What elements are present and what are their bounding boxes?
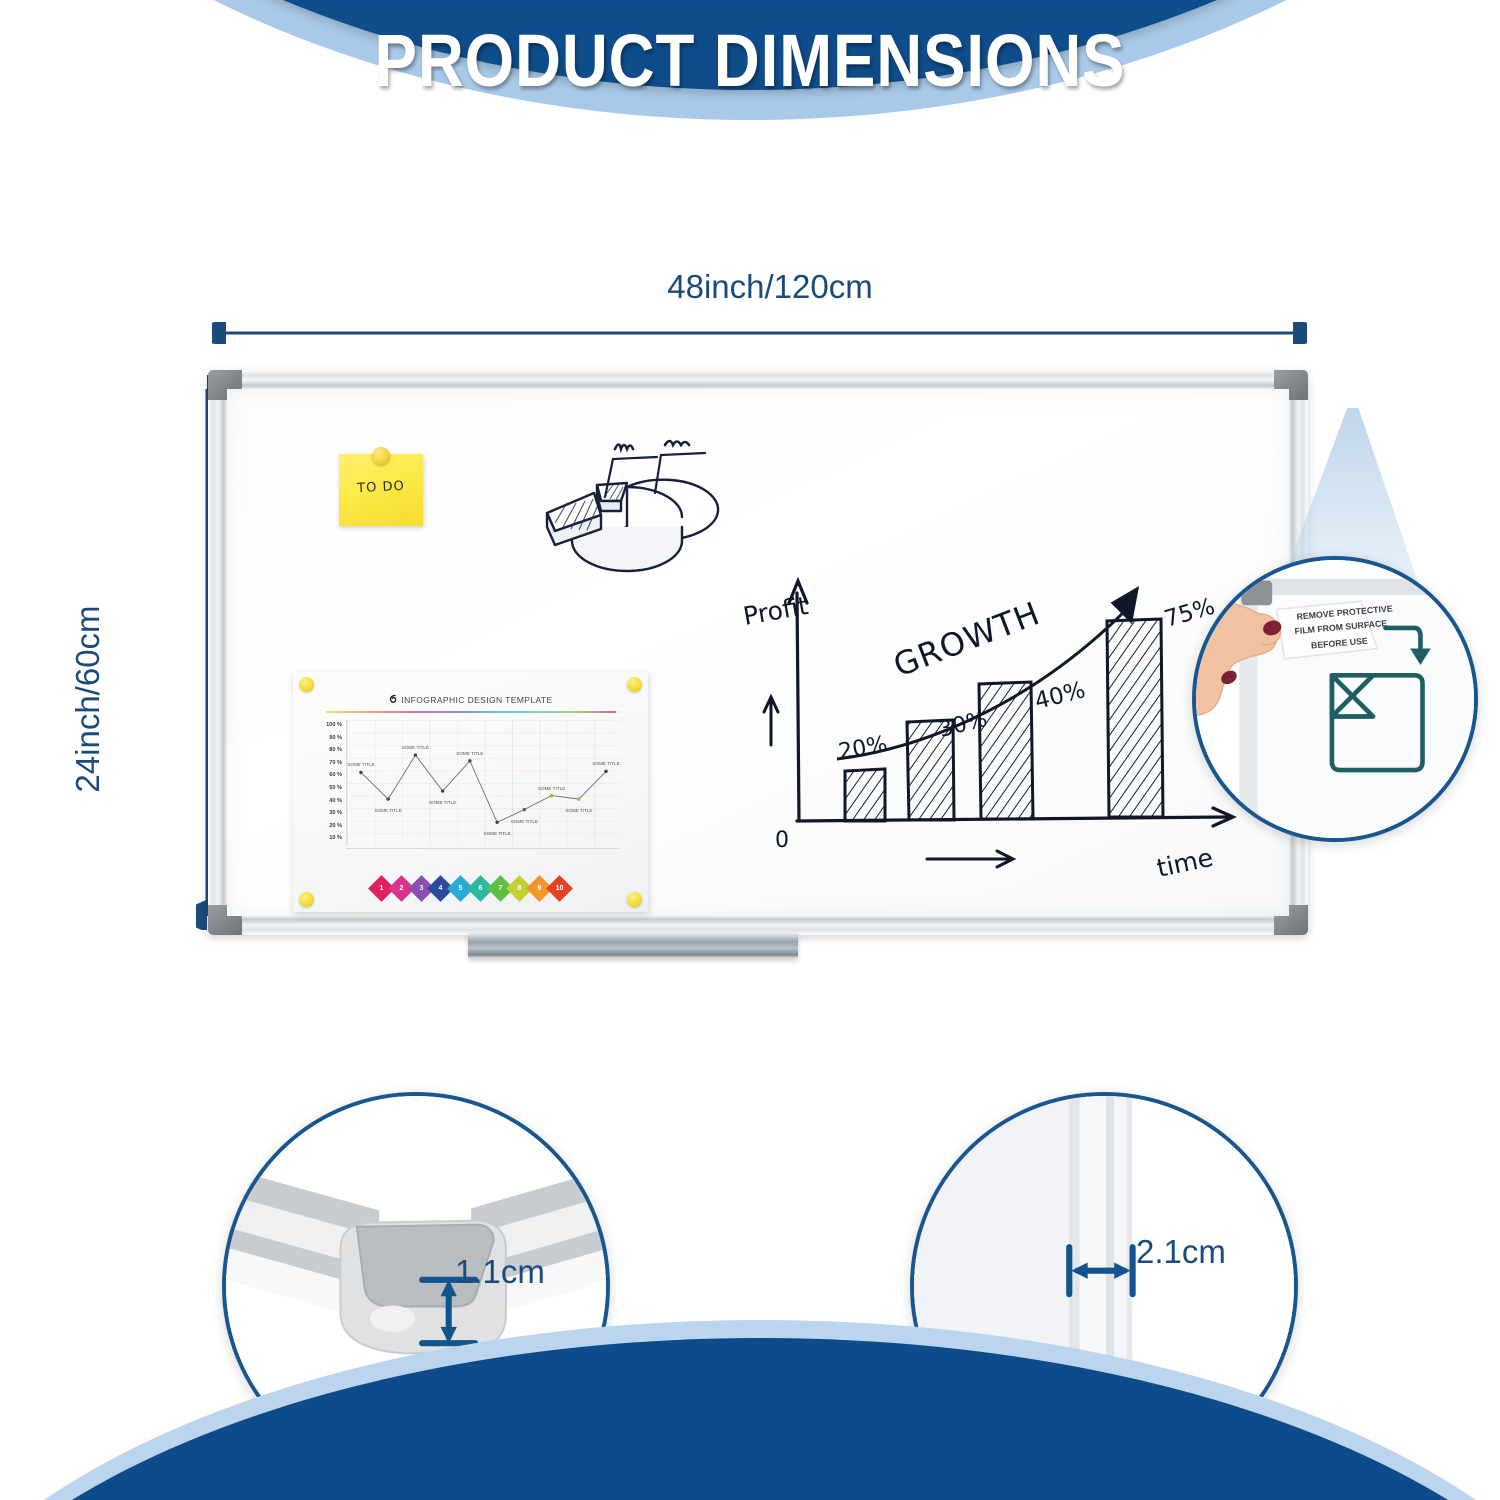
pin-icon <box>372 447 390 465</box>
svg-text:GROWTH: GROWTH <box>888 594 1045 684</box>
chart-plot-area: SOME TITLESOME TITLESOME TITLESOME TITLE… <box>346 720 620 846</box>
chart-y-tick: 40 % <box>329 798 342 804</box>
chart-y-tick: 90 % <box>329 735 342 741</box>
chart-y-axis-labels: 100 %90 %80 %70 %60 %50 %40 %30 %20 %10 … <box>316 720 342 846</box>
chart-point-label: SOME TITLE <box>456 751 483 756</box>
magnet-icon <box>627 677 642 692</box>
footer-wave <box>0 1270 1500 1500</box>
chart-point-label: SOME TITLE <box>402 745 429 750</box>
chart-point-label: SOME TITLE <box>483 831 510 836</box>
pen-tray <box>468 933 798 958</box>
chart-point-label: SOME TITLE <box>511 819 538 824</box>
svg-text:0: 0 <box>775 828 789 853</box>
svg-text:time: time <box>1154 843 1215 883</box>
sketch-pie-chart <box>509 431 744 581</box>
chart-y-tick: 70 % <box>329 760 342 766</box>
whiteboard-surface: TO DO <box>227 389 1289 916</box>
svg-text:75%: 75% <box>1161 594 1217 633</box>
chart-y-tick: 20 % <box>329 823 342 829</box>
chart-point-label: SOME TITLE <box>538 786 565 791</box>
page-title: PRODUCT DIMENSIONS <box>105 18 1395 103</box>
sticky-note: TO DO <box>339 454 423 526</box>
poster-line-chart: 100 %90 %80 %70 %60 %50 %40 %30 %20 %10 … <box>316 720 624 868</box>
chart-point-label: SOME TITLE <box>592 761 619 766</box>
whiteboard: TO DO <box>208 370 1308 935</box>
swirl-icon <box>388 694 398 704</box>
profile-width-label: 2.1cm <box>1136 1233 1226 1271</box>
width-dimension-label: 48inch/120cm <box>540 268 1000 306</box>
chart-point-label: SOME TITLE <box>347 762 374 767</box>
poster-number-badges: 12345678910 <box>293 879 648 898</box>
chart-y-tick: 30 % <box>329 810 342 816</box>
frame-rail-top <box>208 370 1308 389</box>
chart-y-tick: 80 % <box>329 747 342 753</box>
chart-point-label: SOME TITLE <box>429 800 456 805</box>
chart-y-tick: 60 % <box>329 772 342 778</box>
poster-title-text: INFOGRAPHIC DESIGN TEMPLATE <box>401 695 552 705</box>
chart-y-tick: 100 % <box>326 722 342 728</box>
chart-y-tick: 50 % <box>329 785 342 791</box>
number-badge-label: 10 <box>550 879 569 898</box>
sticky-note-text: TO DO <box>339 478 424 497</box>
magnet-icon <box>299 677 314 692</box>
frame-rail-left <box>208 370 227 935</box>
chart-baseline <box>346 848 620 849</box>
chart-y-tick: 10 % <box>329 835 342 841</box>
chart-point-labels: SOME TITLESOME TITLESOME TITLESOME TITLE… <box>347 720 620 846</box>
rainbow-divider <box>326 711 616 713</box>
header-banner: PRODUCT DIMENSIONS <box>0 0 1500 170</box>
height-dimension-label: 24inch/60cm <box>69 549 107 849</box>
product-dimensions-infographic: PRODUCT DIMENSIONS 48inch/120cm 24inch/6… <box>0 0 1500 1500</box>
magnifier-protective-film: REMOVE PROTECTIVE FILM FROM SURFACE BEFO… <box>1192 556 1478 842</box>
svg-text:20%: 20% <box>837 732 890 765</box>
chart-point-label: SOME TITLE <box>375 808 402 813</box>
chart-point-label: SOME TITLE <box>565 808 592 813</box>
infographic-poster: INFOGRAPHIC DESIGN TEMPLATE 100 %90 %80 … <box>293 672 648 912</box>
number-badge: 10 <box>546 875 573 902</box>
poster-title-row: INFOGRAPHIC DESIGN TEMPLATE <box>293 694 648 705</box>
svg-text:Profit: Profit <box>741 591 810 631</box>
width-dimension-arrow <box>212 322 1307 344</box>
svg-text:40%: 40% <box>1032 677 1088 715</box>
